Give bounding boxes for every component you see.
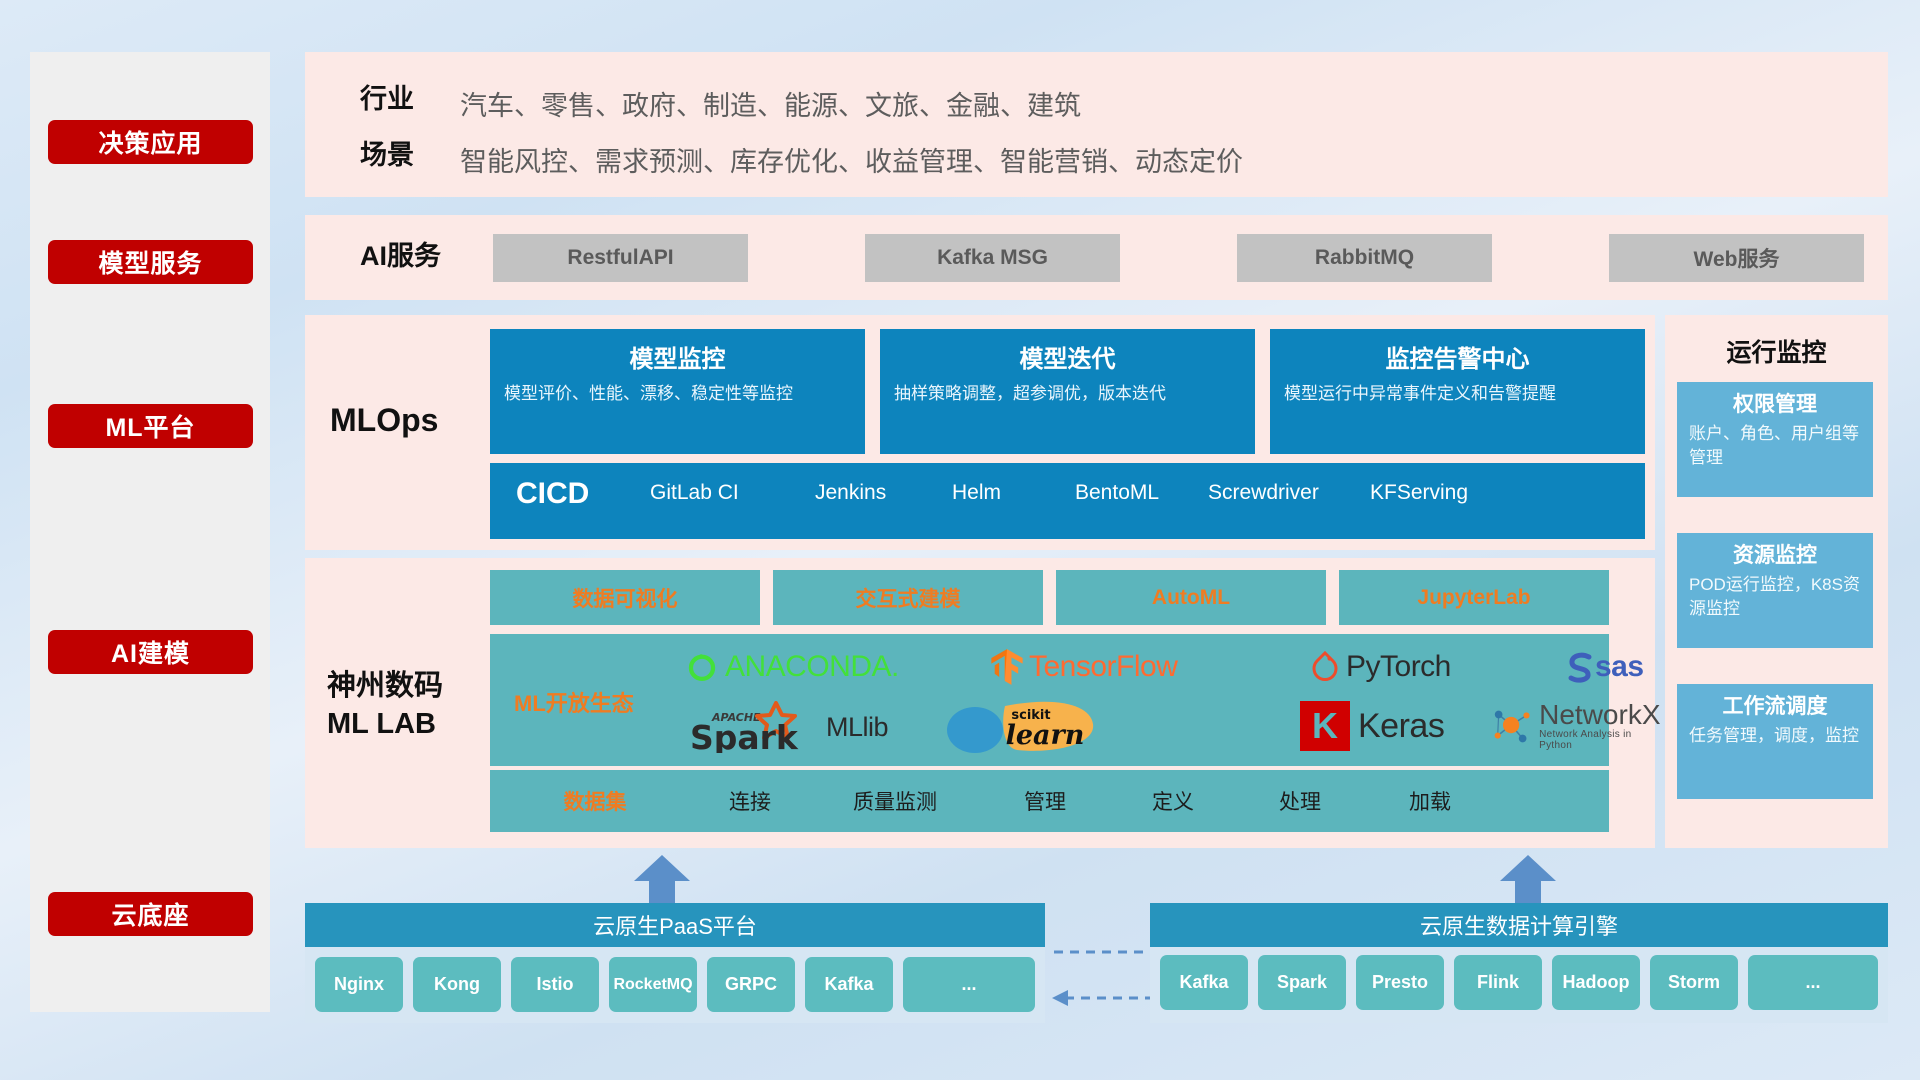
sas-logo: sas (1565, 642, 1644, 692)
cloud-data-engine-block: 云原生数据计算引擎 Kafka Spark Presto Flink Hadoo… (1150, 903, 1888, 1023)
paas-chip-kafka[interactable]: Kafka (805, 957, 893, 1012)
networkx-logo-text: NetworkX (1539, 701, 1662, 729)
paas-chip-grpc[interactable]: GRPC (707, 957, 795, 1012)
mlops-card-title: 模型迭代 (894, 339, 1241, 374)
cloud-paas-block: 云原生PaaS平台 Nginx Kong Istio RocketMQ GRPC… (305, 903, 1045, 1023)
ml-lab-label-line1: 神州数码 (327, 668, 443, 706)
pytorch-logo-text: PyTorch (1346, 650, 1451, 684)
ml-ecosystem-label: ML开放生态 (514, 686, 634, 718)
cloud-paas-header: 云原生PaaS平台 (305, 903, 1045, 947)
monitoring-card-permission[interactable]: 权限管理 账户、角色、用户组等管理 (1677, 382, 1873, 497)
ml-lab-tool-interactive-modeling[interactable]: 交互式建模 (773, 570, 1043, 625)
layer-chip-decision[interactable]: 决策应用 (48, 120, 253, 164)
engine-chip-presto[interactable]: Presto (1356, 955, 1444, 1010)
cicd-item-kfserving[interactable]: KFServing (1370, 479, 1480, 507)
engine-chip-flink[interactable]: Flink (1454, 955, 1542, 1010)
tensorflow-logo-text: TensorFlow (1029, 650, 1177, 684)
engine-chip-kafka[interactable]: Kafka (1160, 955, 1248, 1010)
ai-service-item-web-service[interactable]: Web服务 (1609, 234, 1864, 282)
mlops-card-model-iteration[interactable]: 模型迭代 抽样策略调整，超参调优，版本迭代 (880, 329, 1255, 454)
engine-chip-hadoop[interactable]: Hadoop (1552, 955, 1640, 1010)
cicd-item-gitlab-ci[interactable]: GitLab CI (650, 479, 760, 507)
sas-logo-text: sas (1595, 650, 1644, 684)
dataset-item-processing[interactable]: 处理 (1245, 786, 1355, 816)
paas-chip-nginx[interactable]: Nginx (315, 957, 403, 1012)
monitoring-card-title: 权限管理 (1689, 388, 1861, 418)
decision-application-panel: 行业 汽车、零售、政府、制造、能源、文旅、金融、建筑 场景 智能风控、需求预测、… (305, 52, 1888, 197)
mllib-logo-text: MLlib (826, 712, 888, 743)
upward-arrow-data-engine-icon (1496, 855, 1560, 903)
runtime-monitoring-panel: 运行监控 权限管理 账户、角色、用户组等管理 资源监控 POD运行监控，K8S资… (1665, 315, 1888, 848)
dataset-item-management[interactable]: 管理 (990, 786, 1100, 816)
cloud-data-engine-tray: Kafka Spark Presto Flink Hadoop Storm ..… (1150, 947, 1888, 1023)
networkx-logo-subtext: Network Analysis in Python (1539, 729, 1662, 751)
mlops-panel: MLOps 模型监控 模型评价、性能、漂移、稳定性等监控 模型迭代 抽样策略调整… (305, 315, 1655, 550)
dataset-item-quality-monitoring[interactable]: 质量监测 (825, 786, 965, 816)
ml-ecosystem-strip: ML开放生态 ANACONDA. TensorFlow (490, 634, 1609, 766)
keras-logo-text: Keras (1358, 707, 1444, 746)
pytorch-logo: PyTorch (1310, 642, 1451, 692)
mlops-card-desc: 模型评价、性能、漂移、稳定性等监控 (504, 382, 851, 407)
ai-service-item-restfulapi[interactable]: RestfulAPI (493, 234, 748, 282)
paas-chip-more[interactable]: ... (903, 957, 1035, 1012)
cicd-item-jenkins[interactable]: Jenkins (815, 479, 925, 507)
engine-chip-more[interactable]: ... (1748, 955, 1878, 1010)
ml-lab-tool-jupyterlab[interactable]: JupyterLab (1339, 570, 1609, 625)
mlops-card-model-monitoring[interactable]: 模型监控 模型评价、性能、漂移、稳定性等监控 (490, 329, 865, 454)
upward-arrow-paas-icon (630, 855, 694, 903)
decision-row-value-industry: 汽车、零售、政府、制造、能源、文旅、金融、建筑 (460, 84, 1081, 123)
tensorflow-icon (990, 648, 1024, 686)
tensorflow-logo: TensorFlow (990, 642, 1177, 692)
layer-chip-ai-modeling[interactable]: AI建模 (48, 630, 253, 674)
dataset-item-connect[interactable]: 连接 (695, 786, 805, 816)
decision-row-value-scenario: 智能风控、需求预测、库存优化、收益管理、智能营销、动态定价 (460, 140, 1243, 179)
monitoring-card-title: 资源监控 (1689, 539, 1861, 569)
dataset-label: 数据集 (530, 786, 660, 816)
ml-lab-panel: 神州数码 ML LAB 数据可视化 交互式建模 AutoML JupyterLa… (305, 558, 1655, 848)
networkx-logo: NetworkX Network Analysis in Python (1490, 700, 1662, 752)
cicd-strip: CICD GitLab CI Jenkins Helm BentoML Scre… (490, 463, 1645, 539)
cicd-title: CICD (516, 477, 589, 511)
ml-lab-label-line2: ML LAB (327, 706, 443, 744)
dataset-item-definition[interactable]: 定义 (1118, 786, 1228, 816)
cicd-item-bentoml[interactable]: BentoML (1075, 479, 1185, 507)
paas-chip-kong[interactable]: Kong (413, 957, 501, 1012)
cicd-item-helm[interactable]: Helm (952, 479, 1062, 507)
ml-lab-label: 神州数码 ML LAB (327, 668, 443, 743)
cloud-data-engine-header: 云原生数据计算引擎 (1150, 903, 1888, 947)
layer-chip-ml-platform[interactable]: ML平台 (48, 404, 253, 448)
monitoring-card-title: 工作流调度 (1689, 690, 1861, 720)
mlops-card-desc: 模型运行中异常事件定义和告警提醒 (1284, 382, 1631, 407)
cicd-item-screwdriver[interactable]: Screwdriver (1208, 479, 1318, 507)
dataset-strip: 数据集 连接 质量监测 管理 定义 处理 加载 (490, 770, 1609, 832)
scikit-learn-logo: scikit learn (945, 698, 1110, 754)
architecture-diagram: 决策应用 模型服务 ML平台 AI建模 云底座 行业 汽车、零售、政府、制造、能… (0, 0, 1920, 1080)
ai-service-panel: AI服务 RestfulAPI Kafka MSG RabbitMQ Web服务 (305, 215, 1888, 300)
pytorch-icon (1310, 650, 1340, 684)
cloud-paas-tray: Nginx Kong Istio RocketMQ GRPC Kafka ... (305, 947, 1045, 1023)
keras-logo: K Keras (1300, 700, 1444, 752)
spark-icon: APACHE Spark (690, 701, 820, 753)
paas-chip-rocketmq[interactable]: RocketMQ (609, 957, 697, 1012)
decision-row-label-scenario: 场景 (360, 138, 414, 173)
monitoring-card-desc: 账户、角色、用户组等管理 (1689, 422, 1861, 470)
keras-icon: K (1300, 701, 1350, 751)
dataset-item-loading[interactable]: 加载 (1375, 786, 1485, 816)
svg-text:learn: learn (1006, 720, 1085, 751)
ml-lab-tool-automl[interactable]: AutoML (1056, 570, 1326, 625)
layer-chip-cloud-base[interactable]: 云底座 (48, 892, 253, 936)
layer-rail: 决策应用 模型服务 ML平台 AI建模 云底座 (30, 52, 270, 1012)
mlops-card-alert-center[interactable]: 监控告警中心 模型运行中异常事件定义和告警提醒 (1270, 329, 1645, 454)
mlops-card-desc: 抽样策略调整，超参调优，版本迭代 (894, 382, 1241, 407)
anaconda-icon (685, 650, 719, 684)
mlops-card-title: 模型监控 (504, 339, 851, 374)
ai-service-item-kafka-msg[interactable]: Kafka MSG (865, 234, 1120, 282)
svg-text:Spark: Spark (690, 718, 799, 753)
runtime-monitoring-title: 运行监控 (1665, 333, 1888, 369)
anaconda-logo-text: ANACONDA. (725, 650, 899, 684)
ai-service-item-rabbitmq[interactable]: RabbitMQ (1237, 234, 1492, 282)
monitoring-card-resource[interactable]: 资源监控 POD运行监控，K8S资源监控 (1677, 533, 1873, 648)
ml-lab-tool-data-visualization[interactable]: 数据可视化 (490, 570, 760, 625)
engine-chip-spark[interactable]: Spark (1258, 955, 1346, 1010)
networkx-icon (1490, 703, 1534, 749)
anaconda-logo: ANACONDA. (685, 642, 899, 692)
monitoring-card-desc: 任务管理，调度，监控 (1689, 724, 1861, 748)
monitoring-card-workflow[interactable]: 工作流调度 任务管理，调度，监控 (1677, 684, 1873, 799)
engine-chip-storm[interactable]: Storm (1650, 955, 1738, 1010)
paas-chip-istio[interactable]: Istio (511, 957, 599, 1012)
layer-chip-model-service[interactable]: 模型服务 (48, 240, 253, 284)
monitoring-card-desc: POD运行监控，K8S资源监控 (1689, 573, 1861, 621)
scikit-learn-icon: scikit learn (945, 698, 1110, 754)
ai-service-label: AI服务 (360, 239, 441, 274)
decision-row-label-industry: 行业 (360, 82, 414, 117)
sas-icon (1565, 650, 1597, 684)
mlops-label: MLOps (330, 400, 438, 442)
spark-mllib-logo: APACHE Spark MLlib (690, 700, 888, 754)
mlops-card-title: 监控告警中心 (1284, 339, 1631, 374)
